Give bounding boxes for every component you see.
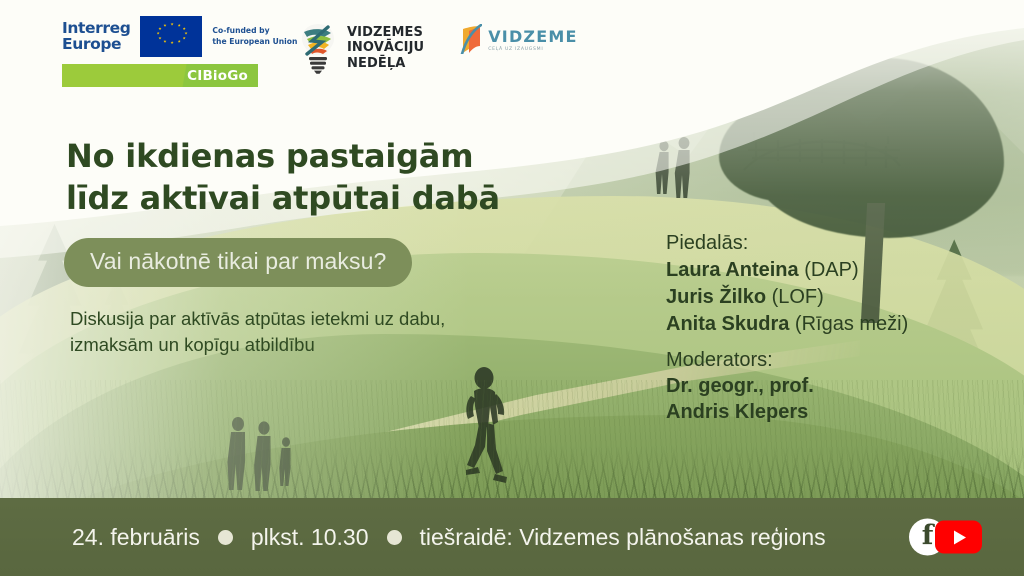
page-title: No ikdienas pastaigām līdz aktīvai atpūt… (66, 136, 500, 219)
moderator-line2: Andris Klepers (666, 399, 908, 425)
event-stream: tiešraidē: Vidzemes plānošanas reģions (420, 524, 826, 551)
moderators-label: Moderators: (666, 347, 908, 373)
participant-name: Laura Anteina (666, 259, 799, 281)
participants-label: Piedalās: (666, 230, 908, 256)
headline-line1: No ikdienas pastaigām (66, 136, 500, 178)
participant-row: Anita Skudra (Rīgas meži) (666, 311, 908, 337)
event-time: plkst. 10.30 (251, 524, 369, 551)
participant-name: Juris Žilko (666, 286, 766, 308)
participant-org: (Rīgas meži) (795, 313, 908, 335)
footer-bar: 24. februāris plkst. 10.30 tiešraidē: Vi… (0, 498, 1024, 576)
participant-org: (DAP) (804, 259, 858, 281)
event-date: 24. februāris (72, 524, 200, 551)
bullet-dot-icon (387, 530, 402, 545)
question-pill: Vai nākotnē tikai par maksu? (64, 238, 412, 287)
participant-row: Laura Anteina (DAP) (666, 257, 908, 283)
question-text: Vai nākotnē tikai par maksu? (90, 248, 386, 274)
bullet-dot-icon (218, 530, 233, 545)
moderator-line1: Dr. geogr., prof. (666, 373, 908, 399)
social-links (909, 519, 982, 556)
panel-list: Piedalās: Laura Anteina (DAP) Juris Žilk… (666, 230, 908, 425)
headline-line2: līdz aktīvai atpūtai dabā (66, 178, 500, 220)
participant-org: (LOF) (772, 286, 824, 308)
event-poster: Interreg Europe (0, 0, 1024, 576)
description-line1: Diskusija par aktīvās atpūtas ietekmi uz… (70, 306, 445, 332)
youtube-icon[interactable] (935, 521, 982, 554)
description-text: Diskusija par aktīvās atpūtas ietekmi uz… (70, 306, 445, 359)
participant-name: Anita Skudra (666, 313, 789, 335)
participant-row: Juris Žilko (LOF) (666, 284, 908, 310)
description-line2: izmaksām un kopīgu atbildību (70, 332, 445, 358)
